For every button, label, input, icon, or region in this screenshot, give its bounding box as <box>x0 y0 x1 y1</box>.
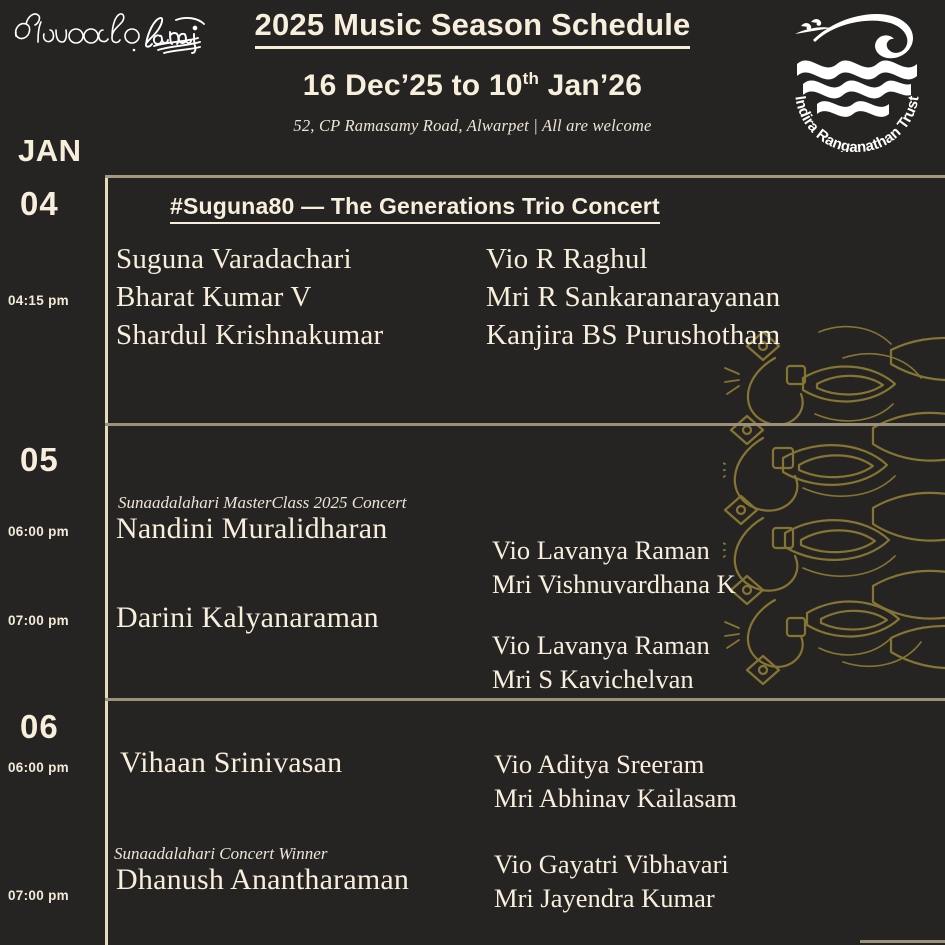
slot-time: 06:00 pm <box>8 524 69 539</box>
accompanist-name: Vio R Raghul <box>486 243 648 276</box>
accompanist-name: Mri Vishnuvardhana K <box>492 568 736 602</box>
accompanist-name: Kanjira BS Purushotham <box>486 319 780 352</box>
accompanist-name: Mri S Kavichelvan <box>492 663 694 697</box>
grid-rule-top <box>105 175 945 178</box>
slot-subtitle: Sunaadalahari MasterClass 2025 Concert <box>118 493 407 513</box>
slot-time: 04:15 pm <box>8 293 69 308</box>
grid-vertical-rule <box>105 175 108 945</box>
day-block-05: 05 06:00 pm Sunaadalahari MasterClass 20… <box>0 423 945 698</box>
day-number: 06 <box>20 708 59 746</box>
date-range: 16 Dec’25 to 10th Jan’26 <box>180 69 765 103</box>
artist-name: Suguna Varadachari <box>116 243 352 276</box>
artist-name: Darini Kalyanaraman <box>116 601 379 635</box>
grid-rule-day05-day06 <box>105 698 945 701</box>
slot-time: 07:00 pm <box>8 888 69 903</box>
day-number: 05 <box>20 441 59 479</box>
day-block-06: 06 06:00 pm Vihaan Srinivasan Vio Aditya… <box>0 698 945 945</box>
accompanist-name: Mri R Sankaranarayanan <box>486 281 780 314</box>
slot-subtitle: Sunaadalahari Concert Winner <box>114 844 327 864</box>
accompanist-name: Vio Aditya Sreeram <box>494 748 704 782</box>
concert-title: #Suguna80 — The Generations Trio Concert <box>170 193 660 224</box>
artist-name: Shardul Krishnakumar <box>116 319 383 352</box>
date-range-suffix: Jan’26 <box>539 69 642 102</box>
month-label: JAN <box>18 133 82 169</box>
artist-name: Nandini Muralidharan <box>116 512 387 546</box>
slot-time: 07:00 pm <box>8 613 69 628</box>
day-block-04: 04 04:15 pm #Suguna80 — The Generations … <box>0 175 945 423</box>
schedule-grid: 04 04:15 pm #Suguna80 — The Generations … <box>0 175 945 945</box>
grid-rule-bottom <box>860 940 945 943</box>
page-title: 2025 Music Season Schedule <box>255 8 691 49</box>
artist-name: Vihaan Srinivasan <box>120 746 342 780</box>
indira-ranganathan-trust-logo-icon: Indira Ranganathan Trust <box>777 2 937 152</box>
title-block: 2025 Music Season Schedule 16 Dec’25 to … <box>180 8 765 136</box>
artist-name: Dhanush Anantharaman <box>116 863 409 897</box>
accompanist-name: Mri Abhinav Kailasam <box>494 782 737 816</box>
poster-root: 2025 Music Season Schedule 16 Dec’25 to … <box>0 0 945 945</box>
day-number: 04 <box>20 185 59 223</box>
grid-rule-day04-day05 <box>105 423 945 426</box>
artist-name: Bharat Kumar V <box>116 281 312 314</box>
poster-header: 2025 Music Season Schedule 16 Dec’25 to … <box>0 0 945 175</box>
accompanist-name: Vio Lavanya Raman <box>492 629 710 663</box>
date-range-prefix: 16 Dec’25 to 10 <box>303 69 523 102</box>
accompanist-name: Mri Jayendra Kumar <box>494 882 715 916</box>
venue-line: 52, CP Ramasamy Road, Alwarpet | All are… <box>180 116 765 136</box>
accompanist-name: Vio Gayatri Vibhavari <box>494 848 729 882</box>
date-range-ordinal: th <box>523 69 539 88</box>
accompanist-name: Vio Lavanya Raman <box>492 534 710 568</box>
slot-time: 06:00 pm <box>8 760 69 775</box>
